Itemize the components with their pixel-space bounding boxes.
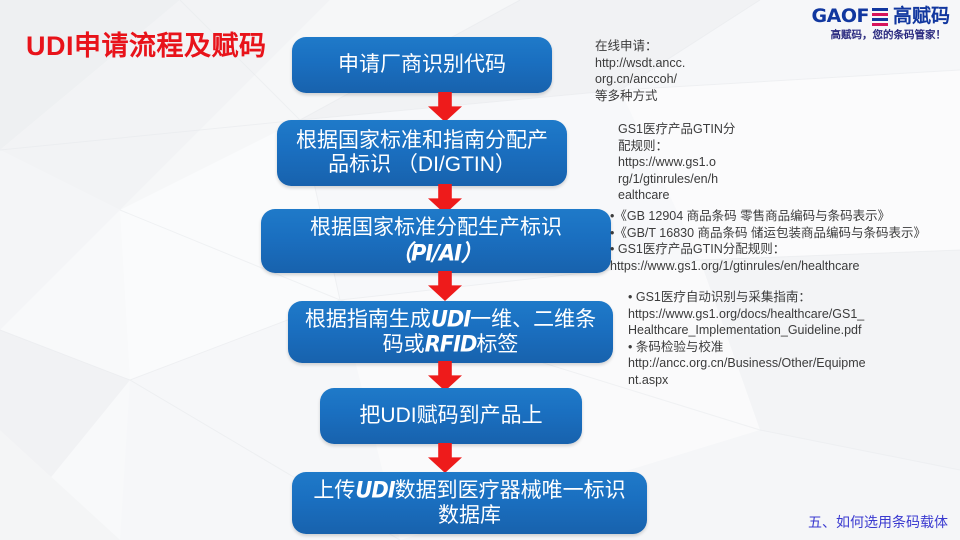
flow-step-2[interactable]: 根据国家标准和指南分配产品标识 （DI/GTIN） [277,120,567,186]
note-1-line-3: org.cn/anccoh/ [595,71,745,88]
note-4-line-6: nt.aspx [628,372,928,389]
logo-wordmark-cn: 高赋码 [893,7,950,26]
down-arrow-icon [428,271,462,301]
annotation-step-1: 在线申请：http://wsdt.ancc.org.cn/anccoh/等多种方… [595,38,745,104]
flow-step-4-part3: 标签 [476,333,518,356]
flow-step-5[interactable]: 把UDI赋码到产品上 [320,388,582,444]
section-footer-label: 五、如何选用条码载体 [808,512,948,532]
note-2-line-4: rg/1/gtinrules/en/h [618,171,763,188]
note-1-line-2: http://wsdt.ancc. [595,55,745,72]
annotation-step-4: • GS1医疗自动识别与采集指南：https://www.gs1.org/doc… [628,289,928,388]
down-arrow-icon [428,92,462,122]
logo-wordmark-latin: GAOF [812,7,869,26]
flow-step-6-label: 上传UDI数据到医疗器械唯一标识数据库 [304,478,635,528]
flow-step-6-part2: 数据到医疗器械唯一标识数据库 [395,479,626,526]
note-4-line-2: https://www.gs1.org/docs/healthcare/GS1_ [628,306,928,323]
barcode-icon [872,8,888,26]
page-title: UDI申请流程及赋码 [26,24,267,63]
note-3-line-2: •《GB/T 16830 商品条码 储运包装商品编码与条码表示》 [610,225,940,242]
flow-step-1[interactable]: 申请厂商识别代码 [292,37,552,93]
flow-step-3[interactable]: 根据国家标准分配生产标识 （PI/AI） [261,209,611,273]
flow-step-3-line1: 根据国家标准分配生产标识 [310,216,562,239]
note-3-line-4: https://www.gs1.org/1/gtinrules/en/healt… [610,258,940,275]
flow-step-1-label: 申请厂商识别代码 [338,53,506,77]
note-4-line-3: Healthcare_Implementation_Guideline.pdf [628,322,928,339]
down-arrow-icon [428,361,462,391]
flow-step-5-label: 把UDI赋码到产品上 [359,404,542,428]
note-2-line-5: ealthcare [618,187,763,204]
logo-tagline: 高赋码，您的条码管家！ [798,30,950,41]
note-3-line-3: • GS1医疗产品GTIN分配规则： [610,241,940,258]
note-4-line-4: • 条码检验与校准 [628,339,928,356]
flow-step-4-rfid: RFID [425,331,477,357]
annotation-step-3: •《GB 12904 商品条码 零售商品编码与条码表示》•《GB/T 16830… [610,208,940,274]
flow-step-6-udi: UDI [355,477,394,503]
down-arrow-icon [428,443,462,473]
note-1-line-1: 在线申请： [595,38,745,55]
brand-logo: GAOF 高赋码 高赋码，您的条码管家！ [798,7,950,41]
slide-canvas: UDI申请流程及赋码 GAOF 高赋码 高赋码，您的条码管家！ 申请厂商识别代码… [0,0,960,540]
flow-step-2-label: 根据国家标准和指南分配产品标识 （DI/GTIN） [289,129,555,178]
flow-step-4-label: 根据指南生成UDI一维、二维条码或RFID标签 [300,307,601,358]
flow-step-6-part1: 上传 [313,479,355,502]
note-2-line-2: 配规则： [618,138,763,155]
note-4-line-5: http://ancc.org.cn/Business/Other/Equipm… [628,355,928,372]
annotation-step-2: GS1医疗产品GTIN分配规则：https://www.gs1.org/1/gt… [618,121,763,204]
flow-step-4-udi: UDI [431,306,470,332]
note-2-line-1: GS1医疗产品GTIN分 [618,121,763,138]
flow-step-3-label: 根据国家标准分配生产标识 （PI/AI） [310,216,562,266]
note-1-line-4: 等多种方式 [595,88,745,105]
note-3-line-1: •《GB 12904 商品条码 零售商品编码与条码表示》 [610,208,940,225]
flow-step-4[interactable]: 根据指南生成UDI一维、二维条码或RFID标签 [288,301,613,363]
note-2-line-3: https://www.gs1.o [618,154,763,171]
flow-step-4-part1: 根据指南生成 [305,308,431,331]
flow-step-6[interactable]: 上传UDI数据到医疗器械唯一标识数据库 [292,472,647,534]
flow-step-3-line2: （PI/AI） [391,240,481,266]
note-4-line-1: • GS1医疗自动识别与采集指南： [628,289,928,306]
